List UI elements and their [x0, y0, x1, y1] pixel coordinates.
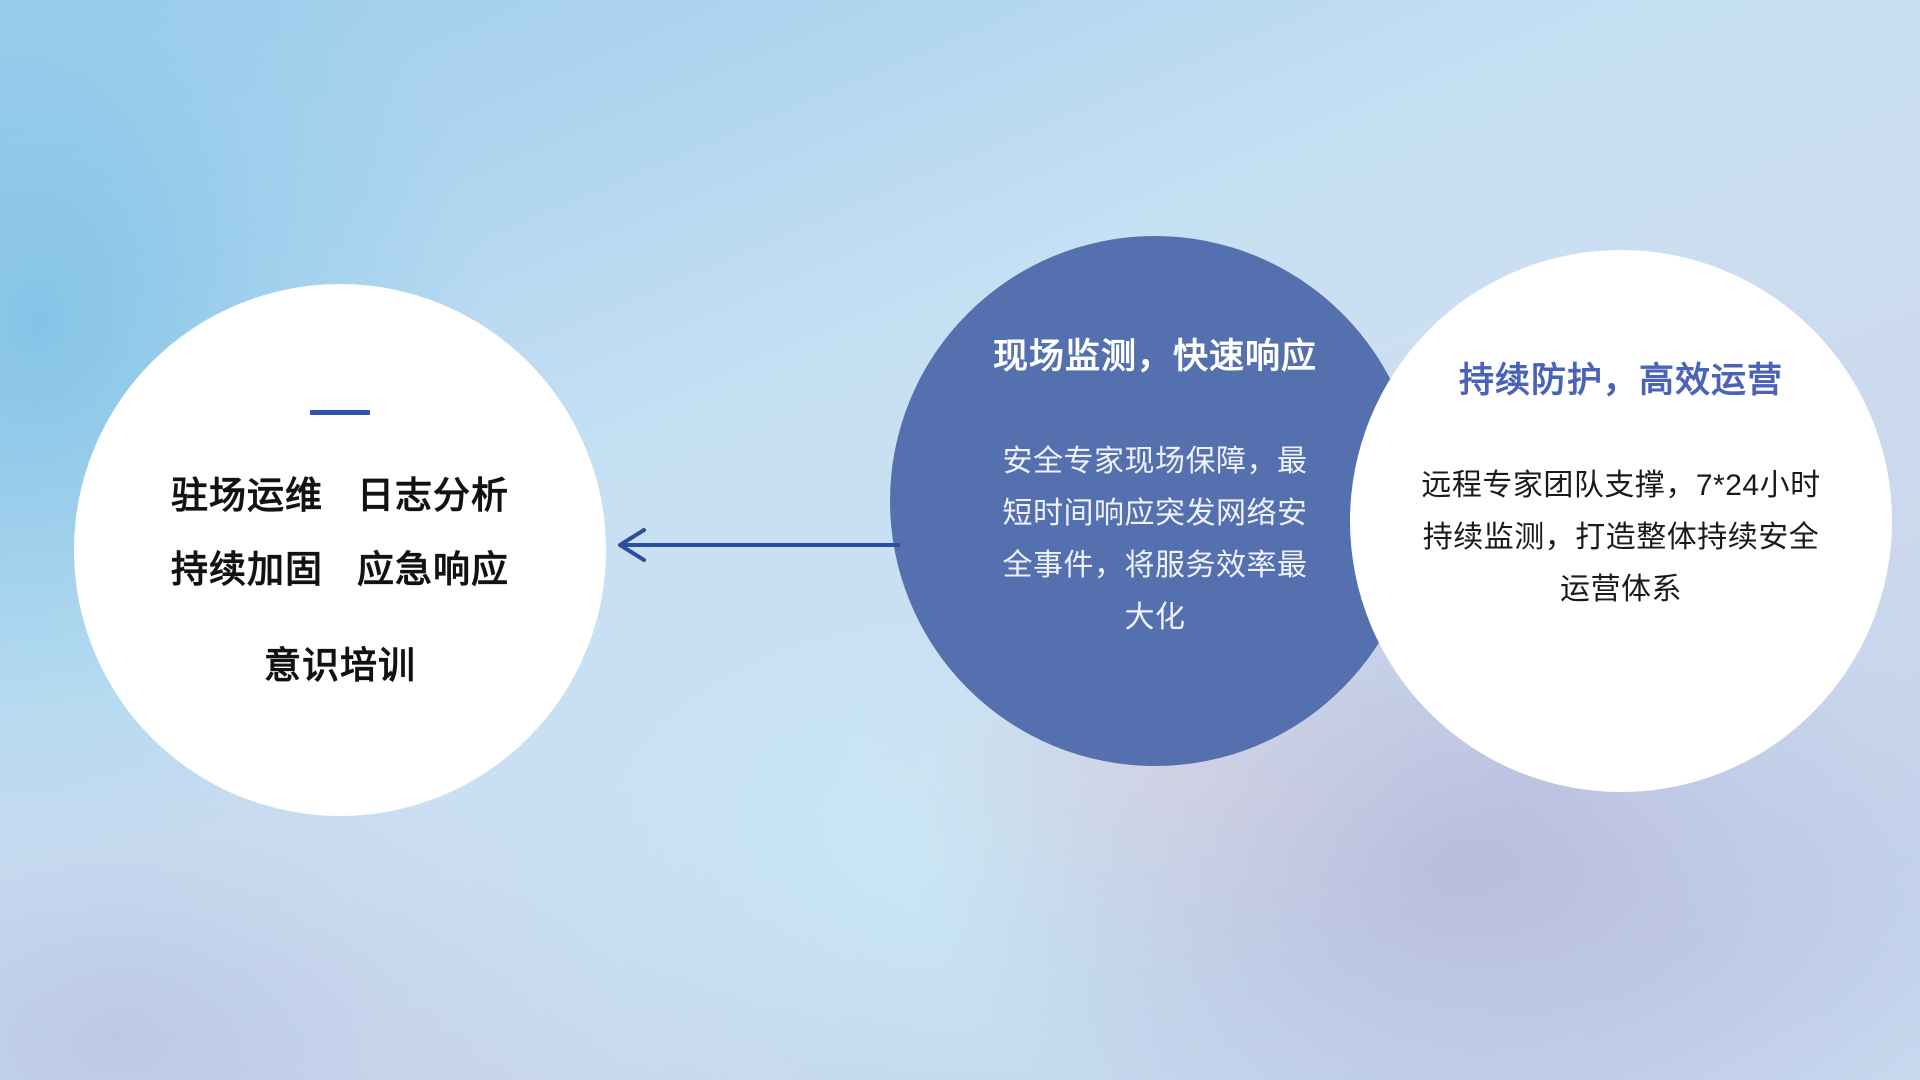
keyword-row-3: 意识培训: [264, 629, 416, 703]
dash-divider-icon: [310, 410, 370, 415]
left-service-circle[interactable]: 驻场运维日志分析 持续加固应急响应 意识培训: [74, 284, 606, 816]
middle-circle-body-text: 安全专家现场保障，最短时间响应突发网络安全事件，将服务效率最大化: [1000, 436, 1310, 644]
keyword-awareness-training: 意识培训: [264, 645, 416, 686]
keyword-continuous-hardening: 持续加固: [171, 549, 323, 590]
keyword-row-1: 驻场运维日志分析: [171, 459, 509, 533]
right-circle-content: 持续防护，高效运营 远程专家团队支撑，7*24小时持续监测，打造整体持续安全运营…: [1350, 250, 1892, 792]
right-circle-body-text: 远程专家团队支撑，7*24小时持续监测，打造整体持续安全运营体系: [1421, 460, 1821, 616]
left-circle-keyword-list: 驻场运维日志分析 持续加固应急响应 意识培训: [171, 459, 509, 703]
keyword-emergency-response: 应急响应: [357, 549, 509, 590]
right-service-circle[interactable]: 持续防护，高效运营 远程专家团队支撑，7*24小时持续监测，打造整体持续安全运营…: [1350, 250, 1892, 792]
middle-service-circle[interactable]: 现场监测，快速响应 安全专家现场保障，最短时间响应突发网络安全事件，将服务效率最…: [890, 236, 1420, 766]
middle-circle-content: 现场监测，快速响应 安全专家现场保障，最短时间响应突发网络安全事件，将服务效率最…: [890, 236, 1420, 766]
arrow-left-icon: [600, 515, 900, 575]
right-circle-title: 持续防护，高效运营: [1459, 360, 1783, 402]
slide-canvas: 驻场运维日志分析 持续加固应急响应 意识培训 现场监测，快速响应 安全专家现场保…: [0, 0, 1920, 1080]
keyword-row-2: 持续加固应急响应: [171, 533, 509, 607]
middle-circle-title: 现场监测，快速响应: [993, 336, 1317, 378]
keyword-log-analysis: 日志分析: [357, 475, 509, 516]
keyword-onsite-ops: 驻场运维: [171, 475, 323, 516]
